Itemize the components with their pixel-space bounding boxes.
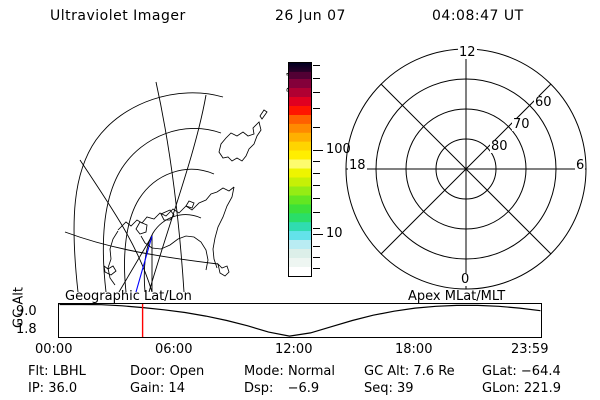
status-glon-value: 221.9 [524,381,561,396]
status-door-label: Door: [130,364,165,379]
geographic-panel-title: Geographic Lat/Lon [65,289,192,304]
timeseries-frame [59,304,542,338]
status-seq-value: 39 [397,381,414,396]
colorbar-tick [313,108,320,109]
status-glon: GLon: 221.9 [482,381,561,396]
colorbar-tick [313,92,320,93]
status-glon-label: GLon: [482,381,520,396]
status-gc-alt-value: 7.6 Re [413,364,454,379]
mlat-label-80: 80 [490,140,509,153]
status-seq: Seq: 39 [364,381,414,396]
colorbar-gradient-box [288,62,312,277]
mlat-label-70: 70 [512,118,531,131]
status-mode-value: Normal [288,364,335,379]
apex-panel-title: Apex MLat/MLT [408,289,505,304]
status-dsp: Dsp: −6.9 [244,381,319,396]
status-flt-label: Flt: [28,364,49,379]
status-glat: GLat: −64.4 [482,364,561,379]
status-flt: Flt: LBHL [28,364,86,379]
colorbar-tick [313,198,320,199]
status-ip-value: 36.0 [48,381,77,396]
mlt-label-0: 0 [460,273,470,286]
status-dsp-label: Dsp: [244,381,273,396]
status-gain-value: 14 [168,381,185,396]
geographic-map-panel [18,40,268,292]
apex-polar-panel: 12 18 6 0 60 70 80 [330,40,592,292]
observation-time: 04:08:47 UT [432,8,524,24]
colorbar-tick [313,185,320,186]
status-glat-value: −64.4 [521,364,561,379]
timeseries-ytick-high: 9.0 [16,304,37,319]
colorbar-tick-major [313,150,323,151]
gc-altitude-timeseries-plot [58,303,542,338]
status-flt-value: LBHL [53,364,86,379]
colorbar-tick [313,246,320,247]
status-door-value: Open [170,364,205,379]
geographic-map-svg [18,40,268,292]
gc-altitude-curve [60,305,541,337]
timeseries-xtick-0000: 00:00 [35,342,72,357]
status-gc-alt: GC Alt: 7.6 Re [364,364,455,379]
colorbar-tick [313,173,320,174]
status-glat-label: GLat: [482,364,517,379]
status-gain-label: Gain: [130,381,164,396]
status-ip-label: IP: [28,381,44,396]
header-bar: Ultraviolet Imager 26 Jun 07 04:08:47 UT [0,8,600,30]
colorbar-tick [313,257,320,258]
colorbar-tick [313,127,320,128]
status-dsp-value: −6.9 [288,381,320,396]
instrument-title: Ultraviolet Imager [50,8,186,24]
status-ip: IP: 36.0 [28,381,77,396]
mlt-label-18: 18 [348,159,367,172]
status-seq-label: Seq: [364,381,393,396]
status-gain: Gain: 14 [130,381,185,396]
observation-date: 26 Jun 07 [275,8,346,24]
gc-altitude-timeseries-svg [58,303,542,338]
colorbar-tick [313,161,320,162]
colorbar-tick [313,268,320,269]
timeseries-ytick-low: 1.8 [16,322,37,337]
timeseries-xtick-1200: 12:00 [275,342,312,357]
mlt-label-6: 6 [575,159,585,172]
timeseries-xtick-2359: 23:59 [511,342,548,357]
mlat-label-60: 60 [534,96,553,109]
apex-polar-svg [330,40,592,292]
timeseries-xtick-1800: 18:00 [395,342,432,357]
colorbar-tick-major [313,234,323,235]
colorbar-gradient [289,63,311,276]
status-mode-label: Mode: [244,364,284,379]
mlt-label-12: 12 [458,46,477,59]
status-block: Flt: LBHL Door: Open Mode: Normal GC Alt… [0,364,600,400]
status-mode: Mode: Normal [244,364,335,379]
colorbar-tick [313,212,320,213]
status-door: Door: Open [130,364,204,379]
colorbar-tick [313,65,320,66]
colorbar-tick [313,78,320,79]
colorbar-tick [313,228,320,229]
status-gc-alt-label: GC Alt: [364,364,409,379]
timeseries-xtick-0600: 06:00 [155,342,192,357]
